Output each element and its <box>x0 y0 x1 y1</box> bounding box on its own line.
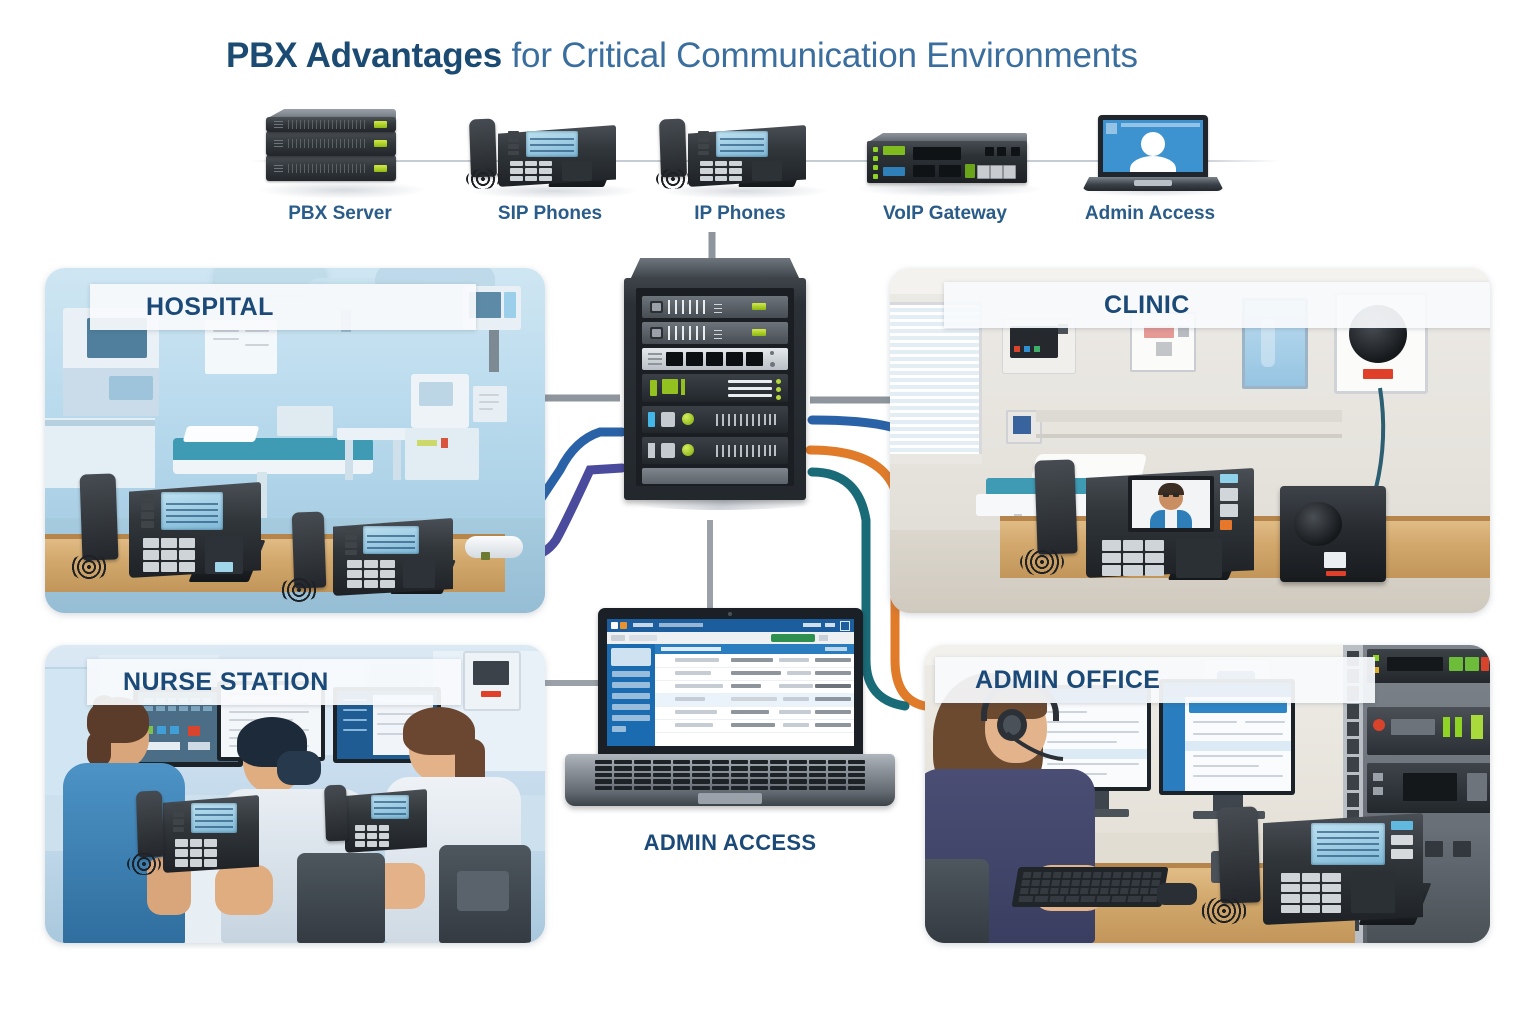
legend-label-admin-access: Admin Access <box>1050 203 1250 225</box>
panel-label-clinic: CLINIC <box>944 282 1490 328</box>
table-row[interactable] <box>655 680 854 694</box>
laptop-trackpad[interactable] <box>698 793 762 804</box>
legend-label-pbx-server: PBX Server <box>240 203 440 225</box>
rack-unit-patch-panel <box>642 348 788 370</box>
legend-label-sip-phones: SIP Phones <box>450 203 650 225</box>
rack-unit-switch <box>642 374 788 402</box>
dashboard-sidebar[interactable] <box>607 644 655 746</box>
admin-chair <box>925 859 989 943</box>
legend-item-pbx-server[interactable]: PBX Server <box>240 95 440 240</box>
laptop-screen <box>607 619 854 746</box>
nurse-chair-1 <box>297 853 385 943</box>
panel-clinic[interactable]: CLINIC <box>890 268 1490 613</box>
legend-item-ip-phones[interactable]: IP Phones <box>640 95 840 240</box>
server-stack-icon <box>240 95 440 200</box>
nurse-wall-panel <box>463 651 521 711</box>
table-row[interactable] <box>655 667 854 681</box>
panel-nurse-station[interactable]: NURSE STATION <box>45 645 545 943</box>
laptop-lid <box>598 608 863 756</box>
rack-chassis <box>624 278 806 500</box>
legend-label-voip-gateway: VoIP Gateway <box>845 203 1045 225</box>
hospital-wireless-base <box>465 536 523 558</box>
central-pbx-server-rack[interactable] <box>620 258 810 520</box>
rack-unit-server-1 <box>642 406 788 433</box>
panel-label-admin-office: ADMIN OFFICE <box>935 657 1375 703</box>
gateway-appliance-icon <box>845 95 1045 200</box>
legend-item-admin-access[interactable]: Admin Access <box>1050 95 1250 240</box>
dashboard-titlebar <box>607 619 854 632</box>
legend-item-sip-phones[interactable]: SIP Phones <box>450 95 650 240</box>
table-row[interactable] <box>655 706 854 720</box>
admin-keyboard[interactable] <box>1011 867 1168 907</box>
table-row[interactable] <box>655 719 854 733</box>
clinic-video-screen <box>1128 476 1214 532</box>
admin-access-laptop[interactable] <box>565 608 895 823</box>
rack-unit-2 <box>642 322 788 344</box>
table-row[interactable] <box>655 654 854 668</box>
dashboard-table <box>655 644 854 746</box>
legend-label-ip-phones: IP Phones <box>640 203 840 225</box>
device-legend-strip: PBX Server SIP Phones IP P <box>230 95 1290 240</box>
desk-phone-icon <box>450 95 650 200</box>
rack-top-cover <box>630 258 800 280</box>
rack-unit-server-2 <box>642 437 788 464</box>
panel-admin-office[interactable]: ADMIN OFFICE <box>925 645 1490 943</box>
laptop-keyboard[interactable] <box>595 760 865 790</box>
admin-mouse[interactable] <box>1157 883 1197 905</box>
page-title-strong: PBX Advantages <box>226 36 502 75</box>
panel-hospital[interactable]: HOSPITAL <box>45 268 545 613</box>
table-row[interactable] <box>655 693 854 707</box>
panel-label-hospital: HOSPITAL <box>90 284 476 330</box>
rack-unit-blank <box>642 468 788 484</box>
laptop-user-icon <box>1050 95 1250 200</box>
page-title: PBX Advantages for Critical Communicatio… <box>226 28 1326 84</box>
rack-front-face <box>636 288 794 486</box>
admin-access-caption: ADMIN ACCESS <box>565 830 895 856</box>
laptop-webcam-icon <box>728 612 732 616</box>
desk-phone-icon <box>640 95 840 200</box>
legend-item-voip-gateway[interactable]: VoIP Gateway <box>845 95 1045 240</box>
page-title-rest: for Critical Communication Environments <box>502 36 1138 75</box>
rack-unit-1 <box>642 296 788 318</box>
panel-label-nurse-station: NURSE STATION <box>87 659 461 705</box>
